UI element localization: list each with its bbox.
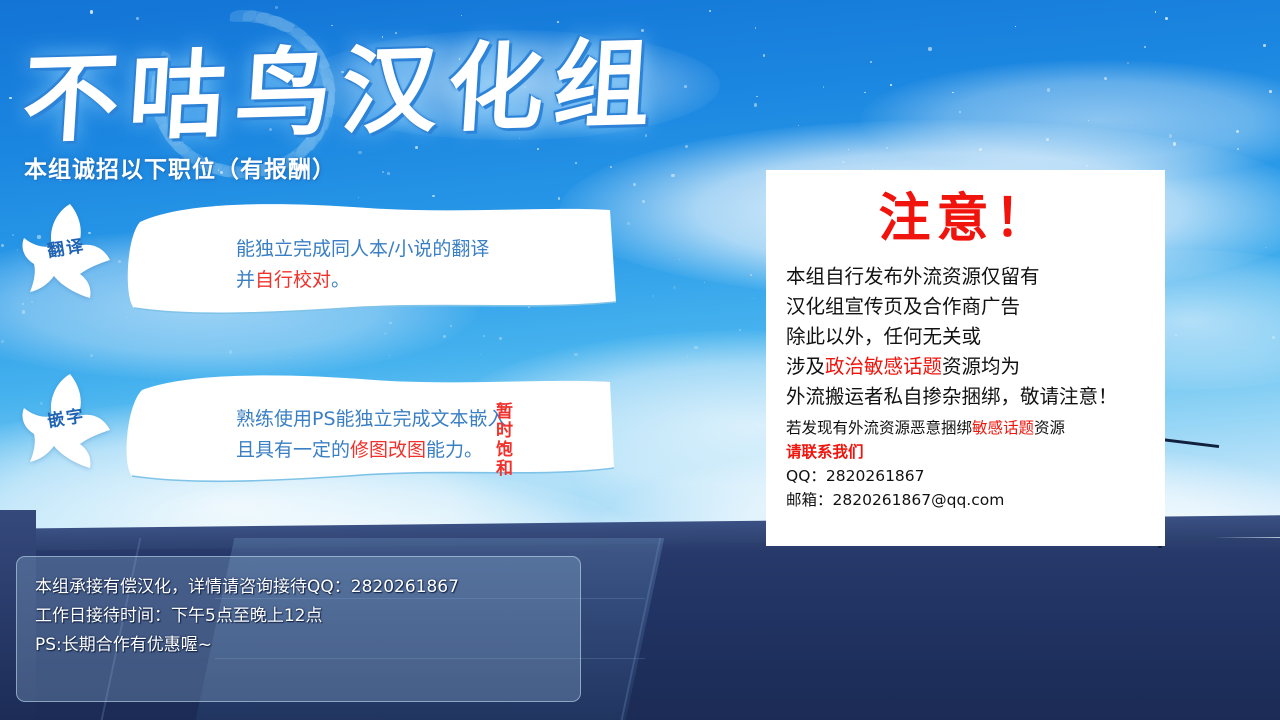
star-speck	[1088, 120, 1089, 121]
star-speck	[289, 357, 290, 358]
star-speck	[763, 54, 766, 57]
star-speck	[9, 97, 12, 100]
star-speck	[1086, 165, 1088, 167]
job-banner: 熟练使用PS能独立完成文本嵌入 且具有一定的修图改图能力。 暂时饱和	[118, 368, 618, 498]
star-speck	[757, 423, 760, 426]
star-speck	[1236, 130, 1239, 133]
star-speck	[1, 340, 4, 343]
notice-small-after: 资源	[1034, 419, 1065, 437]
notice-line: 本组自行发布外流资源仅留有	[786, 265, 1040, 288]
star-speck	[483, 335, 485, 337]
star-speck	[1104, 77, 1107, 80]
notice-small-red: 敏感话题	[972, 419, 1034, 437]
star-speck	[1244, 347, 1246, 349]
star-speck	[610, 166, 612, 168]
notice-line-red: 政治敏感话题	[825, 355, 942, 378]
star-speck	[928, 47, 931, 50]
star-speck	[1015, 26, 1016, 27]
notice-body: 本组自行发布外流资源仅留有 汉化组宣传页及合作商广告 除此以外，任何无关或 涉及…	[786, 262, 1145, 412]
notice-line: 汉化组宣传页及合作商广告	[786, 295, 1020, 318]
dove-icon: 翻译	[18, 202, 114, 302]
star-speck	[798, 125, 799, 126]
star-speck	[754, 103, 757, 106]
star-speck	[1169, 134, 1173, 138]
notice-title: 注意！	[786, 188, 1145, 250]
job-line2-prefix: 且具有一定的	[236, 439, 350, 461]
job-line2-highlight: 修图改图	[350, 439, 426, 461]
star-speck	[959, 111, 961, 113]
dove-icon: 嵌字	[18, 372, 114, 472]
star-speck	[685, 145, 688, 148]
star-speck	[886, 147, 888, 149]
job-line2-suffix: 能力。	[426, 439, 483, 461]
star-speck	[709, 10, 711, 12]
star-speck	[691, 416, 692, 417]
star-speck	[684, 85, 687, 88]
star-speck	[1272, 336, 1275, 339]
star-speck	[382, 171, 384, 173]
star-speck	[848, 149, 850, 151]
footer-line-2: 工作日接待时间：下午5点至晚上12点	[35, 602, 562, 631]
star-speck	[229, 350, 232, 353]
notice-line: 除此以外，任何无关或	[786, 325, 981, 348]
star-speck	[652, 295, 654, 297]
star-speck	[864, 92, 866, 94]
star-speck	[756, 96, 757, 97]
notice-qq-line: QQ：2820261867	[786, 467, 925, 485]
star-speck	[679, 259, 680, 260]
job-line1: 熟练使用PS能独立完成文本嵌入	[236, 408, 507, 430]
star-speck	[432, 195, 434, 197]
star-speck	[1047, 88, 1050, 91]
star-speck	[1144, 46, 1146, 48]
job-row-typesetting: 熟练使用PS能独立完成文本嵌入 且具有一定的修图改图能力。 暂时饱和 嵌字	[18, 368, 618, 498]
job-requirement-text: 能独立完成同人本/小说的翻译 并自行校对。	[236, 234, 576, 296]
star-speck	[90, 354, 93, 357]
job-banner: 能独立完成同人本/小说的翻译 并自行校对。	[118, 198, 618, 328]
service-info-box: 本组承接有偿汉化，详情请咨询接待QQ：2820261867 工作日接待时间：下午…	[16, 556, 581, 702]
job-requirement-text: 熟练使用PS能独立完成文本嵌入 且具有一定的修图改图能力。	[236, 404, 576, 466]
star-speck	[739, 329, 741, 331]
star-speck	[499, 337, 502, 340]
star-speck	[673, 286, 675, 288]
star-speck	[90, 10, 93, 13]
star-speck	[12, 234, 15, 237]
star-speck	[1, 244, 4, 247]
star-speck	[443, 335, 446, 338]
star-speck	[633, 183, 636, 186]
star-speck	[870, 61, 872, 63]
notice-footnote: 若发现有外流资源恶意捆绑敏感话题资源 请联系我们 QQ：2820261867 邮…	[786, 416, 1145, 512]
star-speck	[842, 161, 845, 164]
footer-line-3: PS:长期合作有优惠喔~	[35, 631, 562, 660]
star-speck	[952, 92, 953, 93]
star-speck	[687, 356, 688, 357]
star-speck	[642, 200, 645, 203]
star-speck	[1265, 247, 1266, 248]
job-line2-prefix: 并	[236, 269, 255, 291]
star-speck	[387, 172, 390, 175]
star-speck	[384, 332, 388, 336]
star-speck	[389, 355, 391, 357]
star-speck	[1155, 11, 1156, 12]
star-speck	[1165, 17, 1168, 20]
star-speck	[890, 84, 892, 86]
star-speck	[1175, 334, 1177, 336]
footer-line-1: 本组承接有偿汉化，详情请咨询接待QQ：2820261867	[35, 573, 562, 602]
star-speck	[694, 346, 697, 349]
star-speck	[1131, 122, 1132, 123]
star-speck	[753, 298, 754, 299]
star-speck	[755, 27, 757, 29]
star-speck	[693, 423, 694, 424]
status-badge-saturated: 暂时饱和	[492, 402, 512, 478]
star-speck	[1237, 148, 1239, 150]
star-speck	[1173, 142, 1177, 146]
job-row-translation: 能独立完成同人本/小说的翻译 并自行校对。 翻译	[18, 198, 618, 328]
notice-card: 注意！ 本组自行发布外流资源仅留有 汉化组宣传页及合作商广告 除此以外，任何无关…	[766, 170, 1165, 546]
notice-email-line: 邮箱：2820261867@qq.com	[786, 491, 1004, 509]
star-speck	[1127, 62, 1130, 65]
star-speck	[750, 274, 752, 276]
star-speck	[979, 148, 982, 151]
star-speck	[537, 148, 539, 150]
star-speck	[1046, 138, 1049, 141]
notice-small-line: 若发现有外流资源恶意捆绑	[786, 419, 972, 437]
star-speck	[480, 354, 481, 355]
star-speck	[574, 353, 578, 357]
notice-line: 外流搬运者私自掺杂捆绑，敬请注意！	[786, 385, 1118, 408]
star-speck	[704, 282, 705, 283]
star-speck	[671, 174, 674, 177]
job-line1: 能独立完成同人本/小说的翻译	[236, 238, 489, 260]
star-speck	[1263, 44, 1266, 47]
star-speck	[772, 164, 773, 165]
job-line2-suffix: 。	[331, 269, 350, 291]
star-speck	[627, 222, 630, 225]
page-title: 不咕鸟汉化组	[19, 6, 665, 162]
contact-us-label: 请联系我们	[786, 443, 864, 461]
star-speck	[823, 86, 824, 87]
job-line2-highlight: 自行校对	[255, 269, 331, 291]
star-speck	[1269, 90, 1272, 93]
cloud-shape	[860, 60, 1280, 180]
star-speck	[575, 162, 577, 164]
notice-line-after: 资源均为	[942, 355, 1020, 378]
poster-canvas: 不咕鸟汉化组 本组诚招以下职位（有报酬） 能独立完成同人本/小说的翻译 并自行校…	[0, 0, 1280, 720]
notice-line: 涉及	[786, 355, 825, 378]
recruit-subtitle: 本组诚招以下职位（有报酬）	[24, 150, 336, 184]
